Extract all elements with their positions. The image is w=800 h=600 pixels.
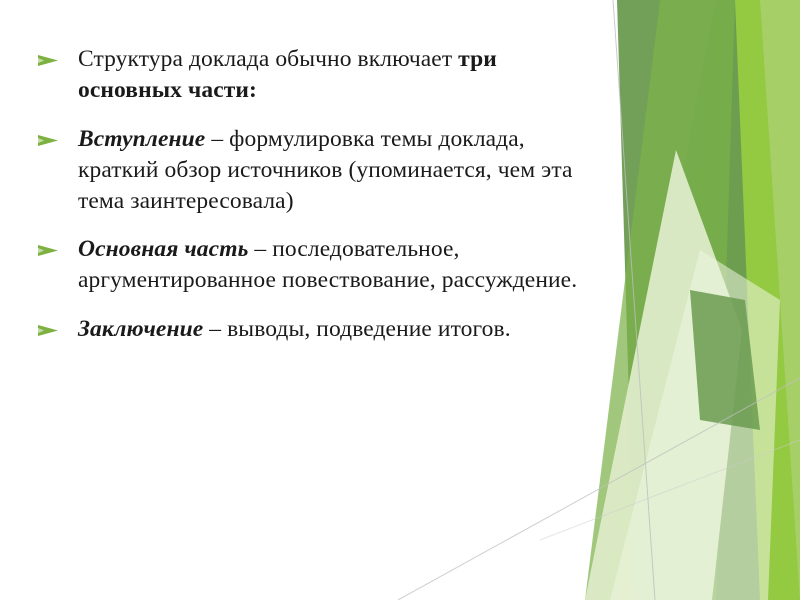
facet-shape-light-green bbox=[600, 0, 800, 600]
bullet-text: Структура доклада обычно включает три ос… bbox=[78, 44, 578, 106]
facet-shape-bright-wedge bbox=[652, 0, 800, 600]
bullet-text: Вступление – формулировка темы доклада, … bbox=[78, 124, 578, 217]
bullet-list: Структура доклада обычно включает три ос… bbox=[0, 44, 600, 345]
text-segment-regular: – выводы, подведение итогов. bbox=[203, 316, 510, 342]
facet-hairline-diagonal bbox=[398, 378, 800, 600]
bullet-item: Заключение – выводы, подведение итогов. bbox=[0, 314, 600, 345]
arrow-bullet-icon bbox=[38, 244, 62, 257]
facet-shape-dark-overlap bbox=[690, 290, 760, 430]
bullet-item: Структура доклада обычно включает три ос… bbox=[0, 44, 600, 106]
bullet-item: Основная часть – последовательное, аргум… bbox=[0, 234, 600, 296]
facet-hairline-vertical bbox=[613, 0, 655, 600]
slide-body-content: Структура доклада обычно включает три ос… bbox=[0, 0, 600, 345]
facet-shape-pale-green bbox=[585, 150, 742, 600]
facet-shape-bright-right bbox=[672, 0, 800, 600]
arrow-bullet-icon bbox=[38, 324, 62, 337]
bullet-text: Основная часть – последовательное, аргум… bbox=[78, 234, 578, 296]
text-segment-bold-italic: Заключение bbox=[78, 316, 203, 342]
text-segment-bold-italic: Вступление bbox=[78, 126, 205, 152]
facet-shape-mid-green bbox=[585, 0, 735, 600]
facet-hairline-diagonal-secondary bbox=[540, 440, 800, 540]
presentation-slide: Структура доклада обычно включает три ос… bbox=[0, 0, 800, 600]
text-segment-bold-italic: Основная часть bbox=[78, 236, 248, 262]
text-segment-regular: Структура доклада обычно включает bbox=[78, 46, 458, 72]
facet-shape-pale-wash bbox=[610, 250, 780, 600]
bullet-text: Заключение – выводы, подведение итогов. bbox=[78, 314, 578, 345]
facet-shape-dark-wedge bbox=[617, 0, 760, 600]
arrow-bullet-icon bbox=[38, 54, 62, 67]
bullet-item: Вступление – формулировка темы доклада, … bbox=[0, 124, 600, 217]
arrow-bullet-icon bbox=[38, 134, 62, 147]
